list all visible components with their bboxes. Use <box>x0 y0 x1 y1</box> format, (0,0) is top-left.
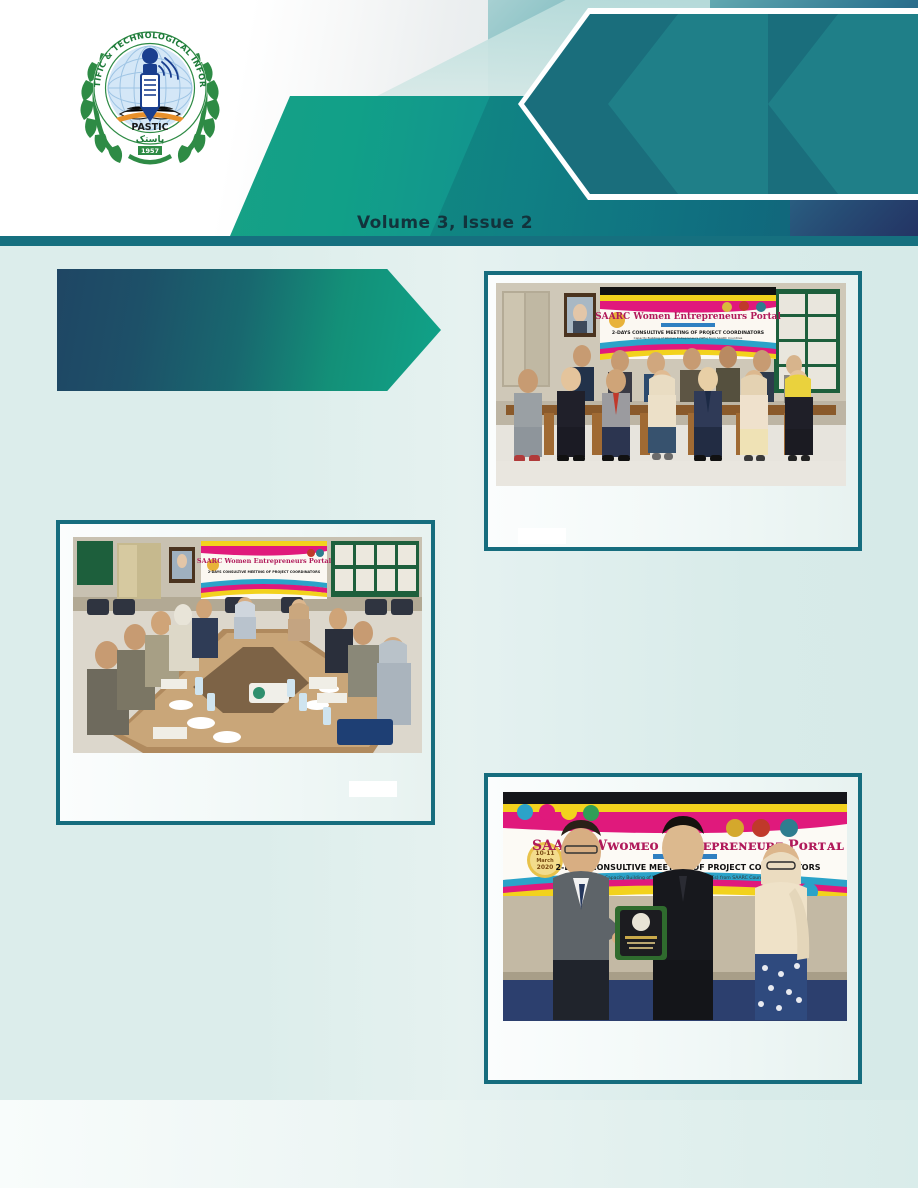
section-title-banner <box>57 269 441 391</box>
newsletter-page: Volume 3, Issue 2 <box>0 0 918 1188</box>
photo-caption-text <box>518 528 566 532</box>
date-badge-year: 2020 <box>537 864 554 871</box>
header-bottom-rule <box>0 236 918 246</box>
logo-urdu: پاستک <box>136 135 165 145</box>
photo-caption-box <box>349 781 397 797</box>
volume-issue-label: Volume 3, Issue 2 <box>357 213 533 233</box>
svg-text:Capacity Building of Women Ent: Capacity Building of Women Entrepreneurs… <box>634 336 743 340</box>
group-photo: SAARC Women Entrepreneurs Portal 2-DAYS … <box>496 283 846 486</box>
photo-caption-text <box>508 1045 516 1049</box>
banner-title: SAARC Women Entrepreneurs Portal <box>595 312 781 322</box>
award-photo: 10-11 March 2020 SAARC Wᴡᴏᴍᴇᴏ Eɴᴛʀᴇᴘʀᴇɴ… <box>503 792 847 1021</box>
photo-caption-text <box>349 781 397 785</box>
page-footer <box>0 1100 918 1188</box>
photo-card-award: 10-11 March 2020 SAARC Wᴡᴏᴍᴇᴏ Eɴᴛʀᴇᴘʀᴇɴ… <box>484 773 862 1084</box>
pastic-logo: PAKISTAN SCIENTIFIC & TECHNOLOGICAL INFO… <box>68 22 232 172</box>
logo-year: 1957 <box>141 147 159 155</box>
meeting-photo: SAARC Women Entrepreneurs Portal 2-DAYS … <box>73 537 422 753</box>
photo-card-group: SAARC Women Entrepreneurs Portal 2-DAYS … <box>484 271 862 551</box>
photo-card-meeting: SAARC Women Entrepreneurs Portal 2-DAYS … <box>56 520 435 825</box>
svg-text:SAARC Women Entrepreneurs Port: SAARC Women Entrepreneurs Portal <box>197 557 332 565</box>
svg-text:2-DAYS CONSULTIVE MEETING OF P: 2-DAYS CONSULTIVE MEETING OF PROJECT COO… <box>208 570 321 574</box>
photo-caption-box <box>518 528 566 544</box>
logo-acronym: PASTIC <box>131 122 168 133</box>
